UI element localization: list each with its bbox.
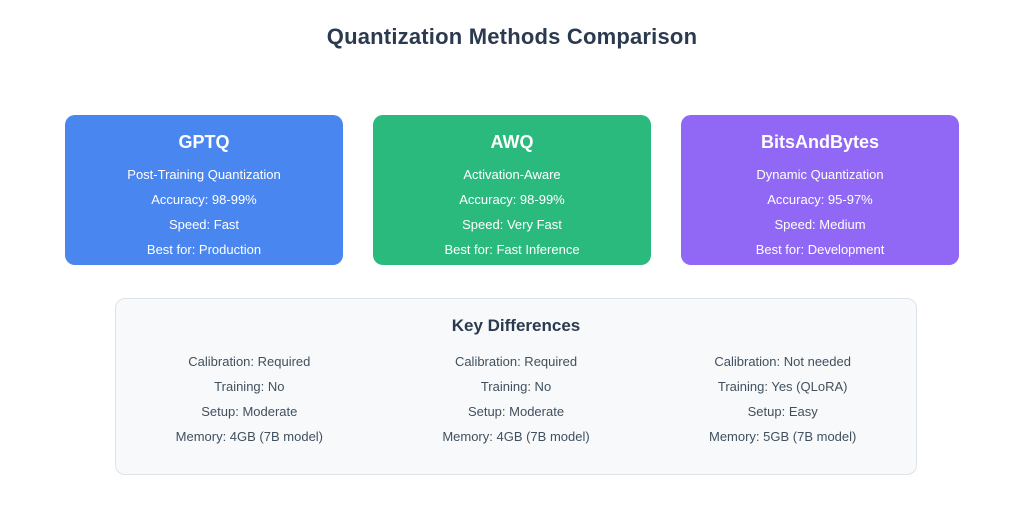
method-card-accuracy: Accuracy: 98-99% (151, 192, 257, 207)
method-card-speed: Speed: Very Fast (462, 217, 562, 232)
diff-training: Training: Yes (QLoRA) (649, 379, 916, 394)
method-card-accuracy: Accuracy: 98-99% (459, 192, 565, 207)
diff-memory: Memory: 4GB (7B model) (383, 429, 650, 444)
page-title: Quantization Methods Comparison (0, 24, 1024, 50)
method-card-best-for: Best for: Fast Inference (444, 242, 579, 257)
key-differences-column-bitsandbytes: Calibration: Not needed Training: Yes (Q… (649, 354, 916, 444)
method-card-awq[interactable]: AWQ Activation-Aware Accuracy: 98-99% Sp… (373, 115, 651, 265)
key-differences-column-awq: Calibration: Required Training: No Setup… (383, 354, 650, 444)
method-card-speed: Speed: Medium (774, 217, 865, 232)
method-card-subtitle: Activation-Aware (463, 167, 560, 182)
method-cards-row: GPTQ Post-Training Quantization Accuracy… (65, 115, 959, 265)
method-card-subtitle: Post-Training Quantization (127, 167, 280, 182)
method-card-title: BitsAndBytes (761, 132, 879, 152)
method-card-bitsandbytes[interactable]: BitsAndBytes Dynamic Quantization Accura… (681, 115, 959, 265)
method-card-gptq[interactable]: GPTQ Post-Training Quantization Accuracy… (65, 115, 343, 265)
diff-calibration: Calibration: Required (116, 354, 383, 369)
key-differences-column-gptq: Calibration: Required Training: No Setup… (116, 354, 383, 444)
key-differences-panel: Key Differences Calibration: Required Tr… (115, 298, 917, 475)
diff-setup: Setup: Moderate (116, 404, 383, 419)
method-card-speed: Speed: Fast (169, 217, 239, 232)
diff-training: Training: No (116, 379, 383, 394)
diff-setup: Setup: Moderate (383, 404, 650, 419)
method-card-title: GPTQ (178, 132, 229, 152)
method-card-best-for: Best for: Production (147, 242, 261, 257)
diff-calibration: Calibration: Not needed (649, 354, 916, 369)
method-card-subtitle: Dynamic Quantization (756, 167, 883, 182)
key-differences-columns: Calibration: Required Training: No Setup… (116, 354, 916, 444)
key-differences-title: Key Differences (116, 316, 916, 336)
diff-memory: Memory: 5GB (7B model) (649, 429, 916, 444)
comparison-diagram: Quantization Methods Comparison GPTQ Pos… (0, 0, 1024, 528)
diff-memory: Memory: 4GB (7B model) (116, 429, 383, 444)
method-card-title: AWQ (491, 132, 534, 152)
diff-setup: Setup: Easy (649, 404, 916, 419)
diff-calibration: Calibration: Required (383, 354, 650, 369)
diff-training: Training: No (383, 379, 650, 394)
method-card-best-for: Best for: Development (756, 242, 885, 257)
method-card-accuracy: Accuracy: 95-97% (767, 192, 873, 207)
